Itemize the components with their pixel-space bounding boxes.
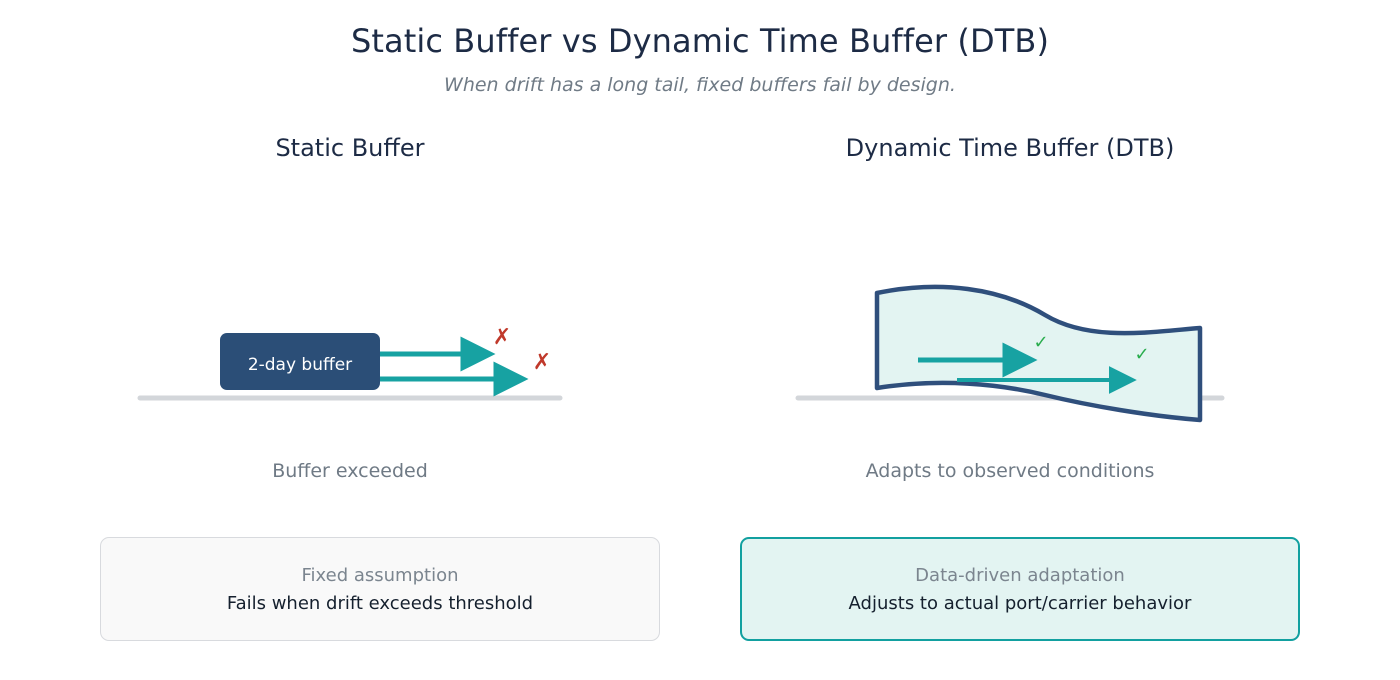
card-eyebrow-dtb: Data-driven adaptation: [915, 565, 1125, 586]
summary-card-static: Fixed assumption Fails when drift exceed…: [100, 537, 660, 641]
static-buffer-label: 2-day buffer: [248, 355, 352, 375]
pass-mark-1: ✓: [1033, 332, 1048, 353]
comparison-illustration: 2-day buffer ✗ ✗ ✓ ✓: [0, 180, 1400, 440]
page-title: Static Buffer vs Dynamic Time Buffer (DT…: [0, 22, 1400, 60]
card-eyebrow-static: Fixed assumption: [302, 565, 459, 586]
panel-heading-static: Static Buffer: [70, 134, 630, 162]
dtb-diagram: ✓ ✓: [798, 287, 1222, 420]
summary-card-dtb: Data-driven adaptation Adjusts to actual…: [740, 537, 1300, 641]
page-subtitle: When drift has a long tail, fixed buffer…: [0, 74, 1400, 96]
pass-mark-2: ✓: [1134, 344, 1149, 365]
static-buffer-diagram: 2-day buffer ✗ ✗: [140, 325, 560, 398]
fail-mark-1: ✗: [493, 325, 511, 350]
panel-heading-dtb: Dynamic Time Buffer (DTB): [730, 134, 1290, 162]
card-body-static: Fails when drift exceeds threshold: [227, 593, 533, 614]
card-body-dtb: Adjusts to actual port/carrier behavior: [849, 593, 1192, 614]
caption-dtb: Adapts to observed conditions: [730, 460, 1290, 482]
fail-mark-2: ✗: [533, 350, 551, 375]
caption-static: Buffer exceeded: [70, 460, 630, 482]
